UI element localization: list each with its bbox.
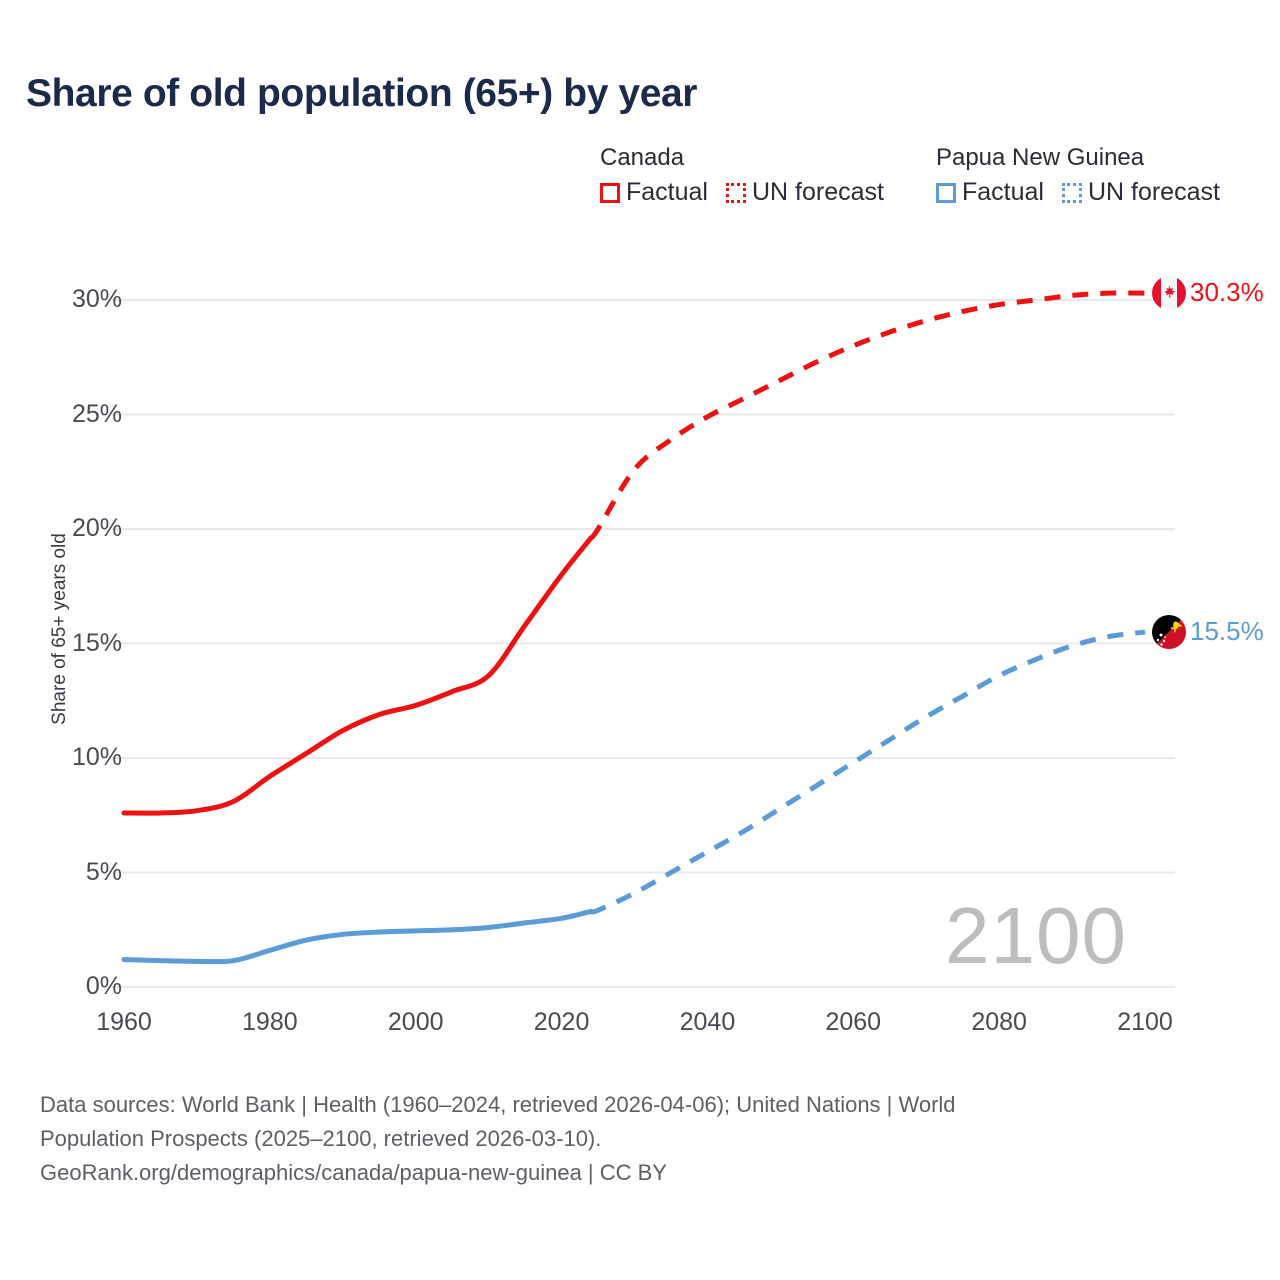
canada-end-label: 30.3%	[1190, 277, 1264, 308]
footer-line-3[interactable]: GeoRank.org/demographics/canada/papua-ne…	[40, 1156, 1240, 1190]
y-tick-label: 10%	[12, 743, 122, 772]
year-watermark: 2100	[945, 890, 1127, 982]
y-tick-label: 0%	[12, 972, 122, 1001]
x-tick-label: 2060	[793, 1008, 913, 1037]
png-end-label: 15.5%	[1190, 616, 1264, 647]
y-tick-label: 25%	[12, 400, 122, 429]
papua-new-guinea-flag-icon	[1152, 615, 1186, 649]
chart-page: Share of old population (65+) by year Ca…	[0, 0, 1280, 1280]
x-tick-label: 2080	[939, 1008, 1059, 1037]
x-tick-label: 2040	[647, 1008, 767, 1037]
footer-sources: Data sources: World Bank | Health (1960–…	[40, 1088, 1240, 1190]
y-tick-label: 15%	[12, 629, 122, 658]
footer-line-2: Population Prospects (2025–2100, retriev…	[40, 1122, 1240, 1156]
x-tick-label: 1980	[210, 1008, 330, 1037]
footer-line-1: Data sources: World Bank | Health (1960–…	[40, 1088, 1240, 1122]
x-tick-label: 2020	[502, 1008, 622, 1037]
x-tick-label: 2100	[1085, 1008, 1205, 1037]
y-tick-label: 30%	[12, 285, 122, 314]
y-tick-label: 5%	[12, 858, 122, 887]
y-tick-label: 20%	[12, 514, 122, 543]
x-tick-label: 2000	[356, 1008, 476, 1037]
x-tick-label: 1960	[64, 1008, 184, 1037]
canada-flag-icon	[1152, 276, 1186, 310]
